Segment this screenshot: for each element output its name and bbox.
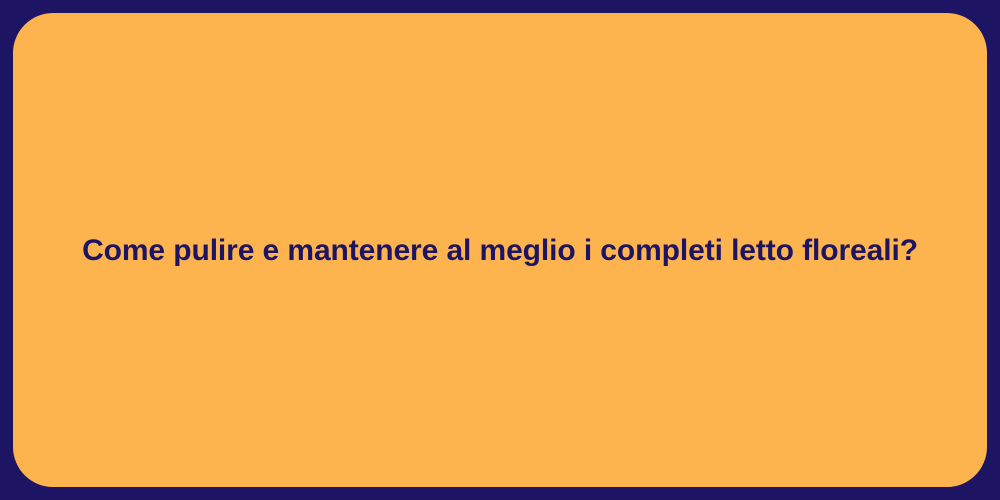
headline-text: Come pulire e mantenere al meglio i comp… (42, 231, 958, 270)
banner-frame: Come pulire e mantenere al meglio i comp… (0, 0, 1000, 500)
content-card: Come pulire e mantenere al meglio i comp… (13, 13, 987, 487)
